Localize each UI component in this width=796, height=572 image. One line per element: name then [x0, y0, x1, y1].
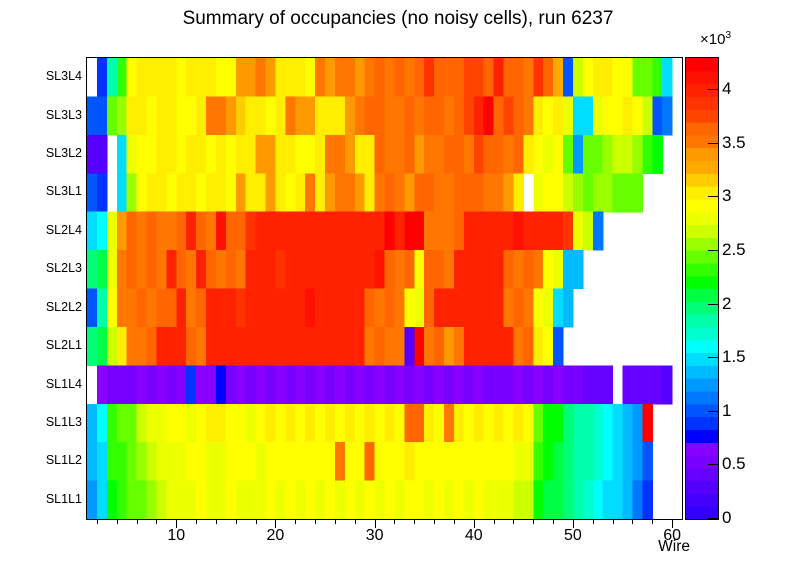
- heatmap-cell: [623, 365, 634, 404]
- heatmap-cell: [444, 96, 455, 135]
- heatmap-cell: [662, 96, 673, 135]
- y-axis-label-sl1l4: SL1L4: [24, 377, 82, 391]
- x-axis-tick: [494, 519, 495, 524]
- heatmap-cell: [434, 327, 445, 366]
- heatmap-cell: [434, 365, 445, 404]
- heatmap-cell: [176, 173, 187, 212]
- heatmap-cell: [87, 250, 98, 289]
- heatmap-cell: [652, 58, 663, 97]
- heatmap-cell: [275, 58, 286, 97]
- heatmap-cell: [543, 212, 554, 251]
- heatmap-cell: [97, 404, 108, 443]
- x-axis-tick: [414, 519, 415, 524]
- heatmap-cell: [216, 404, 227, 443]
- heatmap-cell: [335, 327, 346, 366]
- heatmap-cell: [642, 442, 653, 481]
- heatmap-cell: [494, 442, 505, 481]
- heatmap-cell: [206, 404, 217, 443]
- heatmap-cell: [266, 135, 277, 174]
- heatmap-cell: [107, 289, 118, 328]
- heatmap-cell: [424, 173, 435, 212]
- heatmap-cells: [87, 58, 682, 519]
- heatmap-cell: [593, 404, 604, 443]
- heatmap-cell: [266, 58, 277, 97]
- x-axis-tick: [335, 519, 336, 524]
- heatmap-cell: [642, 404, 653, 443]
- heatmap-cell: [236, 442, 247, 481]
- heatmap-cell: [434, 58, 445, 97]
- heatmap-cell: [236, 250, 247, 289]
- heatmap-cell: [97, 289, 108, 328]
- heatmap-cell: [504, 442, 515, 481]
- y-axis-label-sl3l2: SL3L2: [24, 146, 82, 160]
- heatmap-cell: [246, 404, 257, 443]
- heatmap-cell: [345, 481, 356, 519]
- heatmap-cell: [315, 250, 326, 289]
- heatmap-cell: [256, 289, 267, 328]
- heatmap-cell: [583, 404, 594, 443]
- heatmap-cell: [166, 135, 177, 174]
- colorbar-tick-label: 4: [722, 79, 731, 99]
- heatmap-cell: [166, 212, 177, 251]
- heatmap-cell: [404, 289, 415, 328]
- heatmap-cell: [504, 173, 515, 212]
- x-axis-tick: [632, 519, 633, 524]
- heatmap-cell: [553, 96, 564, 135]
- heatmap-cell: [216, 481, 227, 519]
- heatmap-cell: [176, 442, 187, 481]
- heatmap-cell: [474, 212, 485, 251]
- y-axis-label-sl3l3: SL3L3: [24, 108, 82, 122]
- heatmap-cell: [226, 404, 237, 443]
- heatmap-cell: [117, 212, 128, 251]
- heatmap-cell: [236, 327, 247, 366]
- heatmap-cell: [484, 212, 495, 251]
- heatmap-cell: [137, 404, 148, 443]
- heatmap-cell: [424, 404, 435, 443]
- heatmap-cell: [315, 58, 326, 97]
- heatmap-cell: [394, 289, 405, 328]
- heatmap-cell: [454, 289, 465, 328]
- heatmap-cell: [454, 250, 465, 289]
- heatmap-cell: [226, 289, 237, 328]
- heatmap-cell: [335, 365, 346, 404]
- heatmap-cell: [176, 135, 187, 174]
- y-axis-label-sl2l4: SL2L4: [24, 223, 82, 237]
- heatmap-cell: [424, 58, 435, 97]
- heatmap-cell: [454, 58, 465, 97]
- heatmap-cell: [513, 404, 524, 443]
- heatmap-cell: [256, 327, 267, 366]
- heatmap-cell: [414, 96, 425, 135]
- heatmap-cell: [424, 327, 435, 366]
- heatmap-cell: [176, 327, 187, 366]
- colorbar-tick-label: 2: [722, 294, 731, 314]
- heatmap-cell: [156, 365, 167, 404]
- heatmap-cell: [583, 442, 594, 481]
- heatmap-cell: [404, 58, 415, 97]
- heatmap-cell: [632, 365, 643, 404]
- heatmap-cell: [365, 96, 376, 135]
- heatmap-cell: [603, 96, 614, 135]
- heatmap-cell: [365, 289, 376, 328]
- heatmap-cell: [573, 58, 584, 97]
- x-axis-tick: [533, 519, 534, 524]
- heatmap-cell: [325, 289, 336, 328]
- heatmap-cell: [315, 404, 326, 443]
- heatmap-cell: [236, 289, 247, 328]
- heatmap-cell: [325, 135, 336, 174]
- heatmap-cell: [355, 250, 366, 289]
- heatmap-cell: [613, 442, 624, 481]
- heatmap-plot-area[interactable]: [86, 57, 683, 520]
- heatmap-cell: [394, 58, 405, 97]
- x-axis-tick: [513, 519, 514, 524]
- heatmap-cell: [325, 212, 336, 251]
- heatmap-cell: [335, 135, 346, 174]
- heatmap-cell: [404, 250, 415, 289]
- heatmap-cell: [127, 327, 138, 366]
- heatmap-cell: [513, 173, 524, 212]
- heatmap-cell: [355, 442, 366, 481]
- heatmap-cell: [87, 442, 98, 481]
- heatmap-cell: [87, 212, 98, 251]
- heatmap-cell: [434, 96, 445, 135]
- heatmap-cell: [464, 404, 475, 443]
- heatmap-cell: [543, 404, 554, 443]
- x-axis-tick: [216, 519, 217, 524]
- heatmap-cell: [394, 327, 405, 366]
- heatmap-cell: [543, 442, 554, 481]
- heatmap-cell: [652, 96, 663, 135]
- heatmap-cell: [107, 327, 118, 366]
- heatmap-cell: [533, 135, 544, 174]
- heatmap-cell: [613, 173, 624, 212]
- y-axis-label-sl2l3: SL2L3: [24, 261, 82, 275]
- heatmap-cell: [295, 135, 306, 174]
- colorbar-exponent: ×103: [700, 30, 731, 48]
- heatmap-cell: [97, 250, 108, 289]
- heatmap-cell: [176, 365, 187, 404]
- heatmap-cell: [186, 327, 197, 366]
- heatmap-cell: [107, 365, 118, 404]
- heatmap-cell: [573, 250, 584, 289]
- heatmap-cell: [97, 96, 108, 135]
- y-axis-labels: SL3L4SL3L3SL3L2SL3L1SL2L4SL2L3SL2L2SL2L1…: [18, 57, 82, 518]
- heatmap-cell: [87, 135, 98, 174]
- x-axis-tick: [454, 519, 455, 524]
- heatmap-cell: [404, 173, 415, 212]
- heatmap-cell: [166, 289, 177, 328]
- heatmap-cell: [583, 58, 594, 97]
- heatmap-cell: [295, 58, 306, 97]
- heatmap-cell: [127, 404, 138, 443]
- heatmap-cell: [563, 442, 574, 481]
- heatmap-cell: [256, 58, 267, 97]
- heatmap-cell: [206, 212, 217, 251]
- heatmap-cell: [137, 212, 148, 251]
- heatmap-cell: [186, 442, 197, 481]
- heatmap-cell: [454, 481, 465, 519]
- heatmap-cell: [147, 481, 158, 519]
- heatmap-cell: [206, 442, 217, 481]
- heatmap-cell: [504, 289, 515, 328]
- heatmap-cell: [365, 250, 376, 289]
- heatmap-cell: [226, 96, 237, 135]
- heatmap-cell: [494, 212, 505, 251]
- heatmap-cell: [246, 327, 257, 366]
- heatmap-cell: [137, 365, 148, 404]
- heatmap-cell: [484, 365, 495, 404]
- heatmap-cell: [533, 173, 544, 212]
- heatmap-cell: [305, 365, 316, 404]
- heatmap-cell: [474, 404, 485, 443]
- heatmap-cell: [484, 327, 495, 366]
- x-axis-tick: [256, 519, 257, 524]
- heatmap-cell: [414, 289, 425, 328]
- heatmap-cell: [285, 404, 296, 443]
- heatmap-cell: [484, 404, 495, 443]
- heatmap-cell: [553, 404, 564, 443]
- heatmap-cell: [305, 135, 316, 174]
- heatmap-cell: [632, 442, 643, 481]
- heatmap-cell: [394, 442, 405, 481]
- heatmap-cell: [226, 250, 237, 289]
- heatmap-cell: [553, 135, 564, 174]
- y-axis-label-sl2l1: SL2L1: [24, 338, 82, 352]
- heatmap-cell: [345, 442, 356, 481]
- heatmap-cell: [543, 96, 554, 135]
- heatmap-cell: [166, 481, 177, 519]
- heatmap-cell: [404, 96, 415, 135]
- heatmap-cell: [474, 135, 485, 174]
- heatmap-cell: [553, 365, 564, 404]
- heatmap-cell: [256, 96, 267, 135]
- heatmap-cell: [97, 327, 108, 366]
- heatmap-cell: [295, 173, 306, 212]
- heatmap-cell: [652, 135, 663, 174]
- heatmap-cell: [642, 135, 653, 174]
- heatmap-cell: [623, 173, 634, 212]
- heatmap-cell: [563, 365, 574, 404]
- heatmap-cell: [563, 212, 574, 251]
- heatmap-cell: [355, 173, 366, 212]
- heatmap-cell: [147, 135, 158, 174]
- heatmap-cell: [216, 135, 227, 174]
- heatmap-cell: [355, 96, 366, 135]
- heatmap-cell: [444, 327, 455, 366]
- heatmap-cell: [533, 365, 544, 404]
- heatmap-cell: [434, 135, 445, 174]
- heatmap-cell: [414, 250, 425, 289]
- heatmap-cell: [176, 58, 187, 97]
- heatmap-cell: [504, 365, 515, 404]
- heatmap-cell: [166, 58, 177, 97]
- heatmap-cell: [504, 250, 515, 289]
- heatmap-cell: [305, 481, 316, 519]
- heatmap-cell: [414, 173, 425, 212]
- heatmap-cell: [623, 96, 634, 135]
- heatmap-cell: [117, 365, 128, 404]
- colorbar-tick: [708, 196, 719, 197]
- heatmap-cell: [474, 481, 485, 519]
- heatmap-cell: [394, 481, 405, 519]
- heatmap-cell: [593, 212, 604, 251]
- heatmap-cell: [464, 289, 475, 328]
- heatmap-cell: [543, 481, 554, 519]
- heatmap-cell: [335, 212, 346, 251]
- heatmap-cell: [385, 212, 396, 251]
- heatmap-cell: [335, 481, 346, 519]
- heatmap-cell: [365, 58, 376, 97]
- heatmap-cell: [385, 365, 396, 404]
- heatmap-cell: [156, 404, 167, 443]
- heatmap-cell: [414, 404, 425, 443]
- heatmap-cell: [156, 250, 167, 289]
- heatmap-cell: [434, 442, 445, 481]
- heatmap-cell: [305, 289, 316, 328]
- colorbar-tick: [708, 89, 719, 90]
- heatmap-cell: [275, 365, 286, 404]
- heatmap-cell: [454, 212, 465, 251]
- heatmap-cell: [375, 365, 386, 404]
- heatmap-cell: [424, 212, 435, 251]
- heatmap-cell: [533, 442, 544, 481]
- heatmap-cell: [196, 58, 207, 97]
- heatmap-cell: [127, 96, 138, 135]
- heatmap-cell: [414, 442, 425, 481]
- heatmap-cell: [345, 365, 356, 404]
- heatmap-cell: [275, 404, 286, 443]
- heatmap-cell: [494, 404, 505, 443]
- heatmap-cell: [335, 250, 346, 289]
- heatmap-cell: [97, 58, 108, 97]
- heatmap-cell: [127, 250, 138, 289]
- heatmap-cell: [394, 365, 405, 404]
- heatmap-cell: [335, 58, 346, 97]
- heatmap-cell: [513, 289, 524, 328]
- heatmap-cell: [315, 212, 326, 251]
- colorbar-tick-label: 0: [722, 508, 731, 528]
- heatmap-cell: [256, 212, 267, 251]
- heatmap-cell: [87, 327, 98, 366]
- heatmap-cell: [156, 135, 167, 174]
- heatmap-cell: [355, 327, 366, 366]
- heatmap-cell: [355, 135, 366, 174]
- heatmap-cell: [504, 404, 515, 443]
- page-title: Summary of occupancies (no noisy cells),…: [0, 8, 796, 30]
- heatmap-cell: [275, 96, 286, 135]
- heatmap-cell: [236, 135, 247, 174]
- heatmap-cell: [345, 404, 356, 443]
- heatmap-cell: [593, 365, 604, 404]
- heatmap-cell: [196, 212, 207, 251]
- heatmap-cell: [305, 327, 316, 366]
- heatmap-cell: [236, 481, 247, 519]
- heatmap-cell: [325, 96, 336, 135]
- heatmap-cell: [275, 481, 286, 519]
- heatmap-cell: [454, 442, 465, 481]
- heatmap-cell: [97, 173, 108, 212]
- x-axis-tick: [196, 519, 197, 524]
- heatmap-cell: [295, 250, 306, 289]
- heatmap-cell: [137, 481, 148, 519]
- heatmap-cell: [484, 58, 495, 97]
- heatmap-cell: [424, 365, 435, 404]
- heatmap-cell: [563, 481, 574, 519]
- heatmap-cell: [553, 442, 564, 481]
- heatmap-cell: [434, 250, 445, 289]
- heatmap-cell: [444, 404, 455, 443]
- colorbar-exponent-base: ×10: [700, 31, 725, 48]
- heatmap-cell: [375, 96, 386, 135]
- heatmap-cell: [424, 135, 435, 174]
- heatmap-cell: [256, 365, 267, 404]
- heatmap-cell: [434, 212, 445, 251]
- heatmap-cell: [385, 327, 396, 366]
- heatmap-cell: [385, 442, 396, 481]
- heatmap-cell: [593, 135, 604, 174]
- heatmap-cell: [543, 327, 554, 366]
- heatmap-cell: [176, 250, 187, 289]
- heatmap-cell: [583, 173, 594, 212]
- heatmap-cell: [355, 365, 366, 404]
- heatmap-cell: [196, 442, 207, 481]
- heatmap-cell: [494, 365, 505, 404]
- heatmap-cell: [494, 58, 505, 97]
- heatmap-cell: [444, 289, 455, 328]
- heatmap-cell: [394, 250, 405, 289]
- heatmap-cell: [573, 365, 584, 404]
- heatmap-cell: [553, 250, 564, 289]
- heatmap-cell: [632, 404, 643, 443]
- heatmap-cell: [256, 250, 267, 289]
- heatmap-cell: [206, 289, 217, 328]
- heatmap-cell: [424, 289, 435, 328]
- heatmap-cell: [117, 173, 128, 212]
- heatmap-cell: [454, 96, 465, 135]
- heatmap-cell: [216, 442, 227, 481]
- heatmap-cell: [464, 58, 475, 97]
- heatmap-cell: [137, 58, 148, 97]
- heatmap-cell: [325, 58, 336, 97]
- heatmap-cell: [603, 58, 614, 97]
- heatmap-cell: [603, 365, 614, 404]
- heatmap-cell: [127, 442, 138, 481]
- heatmap-cell: [246, 365, 257, 404]
- heatmap-cell: [216, 365, 227, 404]
- heatmap-cell: [593, 173, 604, 212]
- heatmap-cell: [246, 289, 257, 328]
- heatmap-cell: [305, 442, 316, 481]
- heatmap-cell: [623, 58, 634, 97]
- colorbar-ticks: [685, 57, 719, 518]
- heatmap-cell: [107, 212, 118, 251]
- heatmap-cell: [107, 58, 118, 97]
- heatmap-cell: [186, 289, 197, 328]
- colorbar-tick: [708, 464, 719, 465]
- heatmap-cell: [137, 250, 148, 289]
- heatmap-cell: [444, 481, 455, 519]
- heatmap-cell: [394, 212, 405, 251]
- heatmap-cell: [246, 135, 257, 174]
- heatmap-cell: [325, 250, 336, 289]
- heatmap-cell: [583, 135, 594, 174]
- heatmap-cell: [206, 481, 217, 519]
- heatmap-cell: [285, 365, 296, 404]
- heatmap-cell: [325, 481, 336, 519]
- heatmap-cell: [206, 250, 217, 289]
